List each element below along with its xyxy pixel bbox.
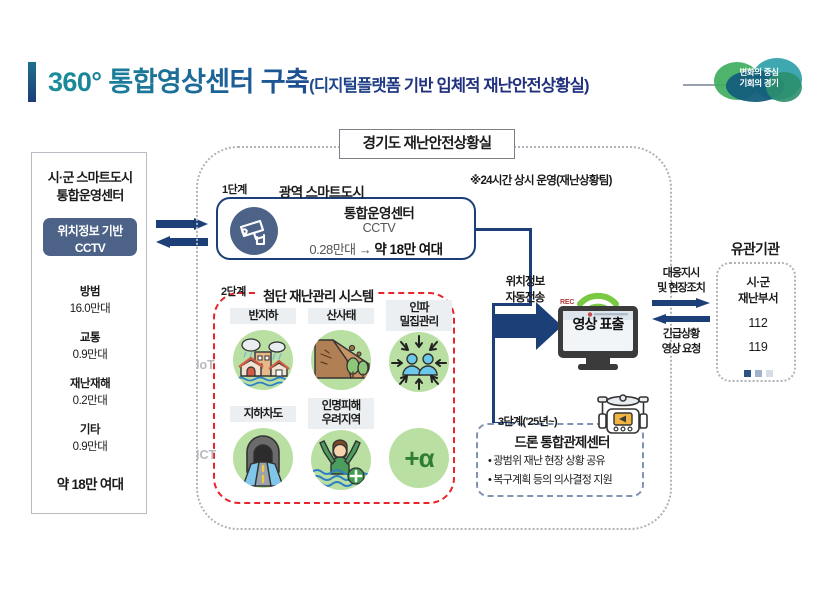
arrow-glyph: →: [359, 242, 372, 257]
stat-row: 방범 16.0만대: [32, 284, 148, 319]
hazard-label: 인명피해 우려지역: [308, 398, 374, 429]
crowd-density-icon: [389, 332, 449, 392]
landslide-icon: [311, 330, 371, 390]
drone-bullet: • 광범위 재난 현장 상황 공유: [488, 454, 646, 469]
stat-row: 기타 0.9만대: [32, 422, 148, 457]
rec-indicator-label: REC: [560, 299, 574, 306]
agency-number: 119: [718, 340, 798, 354]
stat-label: 재난재해: [32, 376, 148, 393]
stat-value: 0.9만대: [32, 347, 148, 364]
dispatch-exchange-arrow-icon: [652, 298, 710, 326]
hazard-label-line1: 인명피해: [308, 399, 374, 413]
hazard-label-line1: 지하차도: [230, 407, 296, 421]
hazard-label: 반지하: [230, 308, 296, 324]
iot-watermark: IoT: [196, 358, 215, 372]
dot-3: [766, 370, 773, 377]
auto-transmission-label: 위치정보 자동전송: [494, 275, 556, 306]
situation-room-title: 경기도 재난안전상황실: [339, 129, 515, 159]
cctv-count-row: 0.28만대 → 약 18만 여대: [278, 238, 474, 258]
connector-line: [474, 228, 532, 231]
hazard-label-line2: 밀집관리: [386, 315, 452, 329]
cctv-count-before: 0.28만대: [309, 242, 355, 257]
stat-label: 교통: [32, 330, 148, 347]
title-accent-bar: [28, 62, 36, 102]
stat-label: 기타: [32, 422, 148, 439]
ict-watermark: ICT: [196, 448, 216, 462]
logo-text: 변화의 중심 기회의 경기: [712, 67, 806, 90]
stat-value: 0.9만대: [32, 439, 148, 456]
dot-1: [744, 370, 751, 377]
step3-label: 3단계('25년~): [498, 413, 557, 429]
left-panel-title-line2: 통합운영센터: [32, 187, 148, 205]
agency-number: 112: [718, 316, 798, 330]
cctv-camera-icon: [230, 207, 278, 255]
left-panel-total: 약 18만 여대: [32, 473, 148, 493]
gyeonggi-logo: 변화의 중심 기회의 경기: [712, 56, 806, 106]
underpass-tunnel-icon: [233, 428, 293, 488]
cctv-badge-line2: CCTV: [43, 240, 137, 257]
stat-label: 방범: [32, 284, 148, 301]
agency-dept-line2: 재난부서: [718, 292, 798, 308]
stat-row: 교통 0.9만대: [32, 330, 148, 365]
center-name: 통합운영센터: [286, 202, 472, 222]
flooded-house-icon: [233, 330, 293, 390]
operation-note: ※24시간 상시 운영(재난상황팀): [470, 172, 612, 188]
cctv-count-after: 약 18만 여대: [374, 242, 442, 257]
dot-2: [755, 370, 762, 377]
drone-bullet: • 복구계획 등의 의사결정 지원: [488, 473, 646, 488]
cctv-label: CCTV: [286, 221, 472, 235]
logo-line-2: 기회의 경기: [712, 78, 806, 89]
page-title: 360° 통합영상센터 구축(디지털플랫폼 기반 입체적 재난안전상황실): [48, 60, 589, 99]
location-based-cctv-badge: 위치정보 기반 CCTV: [43, 218, 137, 256]
dispatch-bot-line2: 영상 요청: [650, 342, 712, 357]
logo-line-1: 변화의 중심: [712, 67, 806, 78]
hazard-label-line1: 인파: [386, 301, 452, 315]
dispatch-order-label: 대응지시 및 현장조치: [650, 266, 712, 296]
metro-smart-city-center-box: 통합운영센터 CCTV 0.28만대 → 약 18만 여대: [216, 197, 476, 260]
hazard-label: 지하차도: [230, 406, 296, 422]
dispatch-top-line1: 대응지시: [650, 266, 712, 281]
dispatch-bot-line1: 긴급상황: [650, 327, 712, 342]
video-display-label: 영상 표출: [556, 314, 640, 334]
stat-row: 재난재해 0.2만대: [32, 376, 148, 411]
feed-label-line1: 위치정보: [494, 275, 556, 291]
page-title-bar: 360° 통합영상센터 구축(디지털플랫폼 기반 입체적 재난안전상황실): [28, 60, 788, 106]
step1-label: 1단계: [222, 181, 247, 197]
related-agencies-panel: 시·군 재난부서 112 119: [716, 262, 796, 382]
dispatch-top-line2: 및 현장조치: [650, 281, 712, 296]
hazard-label-line2: 우려지역: [308, 413, 374, 427]
left-panel-title: 시·군 스마트도시 통합운영센터: [32, 169, 148, 206]
left-panel-title-line1: 시·군 스마트도시: [32, 169, 148, 187]
step1-caption: 광역 스마트도시: [279, 181, 364, 201]
agency-dept-line1: 시·군: [718, 276, 798, 292]
related-agencies-title: 유관기관: [697, 239, 813, 259]
emergency-request-label: 긴급상황 영상 요청: [650, 327, 712, 357]
hazard-label-line1: 산사태: [308, 309, 374, 323]
step2-title: 첨단 재난관리 시스템: [258, 285, 378, 305]
hazard-label: 산사태: [308, 308, 374, 324]
page-title-main: 360° 통합영상센터 구축: [48, 67, 309, 97]
plus-alpha-icon: +α: [389, 428, 449, 488]
step2-label: 2단계: [221, 283, 246, 299]
agency-more-dots: [718, 364, 798, 382]
plus-alpha-text: +α: [389, 428, 449, 488]
cctv-badge-line1: 위치정보 기반: [43, 223, 137, 240]
agency-department: 시·군 재난부서: [718, 276, 798, 307]
hazard-label: 인파 밀집관리: [386, 300, 452, 331]
page-title-sub: (디지털플랫폼 기반 입체적 재난안전상황실): [309, 77, 589, 95]
stat-value: 0.2만대: [32, 393, 148, 410]
drone-icon: [592, 392, 654, 440]
drowning-person-icon: [311, 430, 371, 490]
city-county-smart-center-panel: 시·군 스마트도시 통합운영센터 위치정보 기반 CCTV 방범 16.0만대 …: [31, 152, 147, 514]
stat-value: 16.0만대: [32, 301, 148, 318]
hazard-label-line1: 반지하: [230, 309, 296, 323]
feed-label-line2: 자동전송: [494, 291, 556, 307]
